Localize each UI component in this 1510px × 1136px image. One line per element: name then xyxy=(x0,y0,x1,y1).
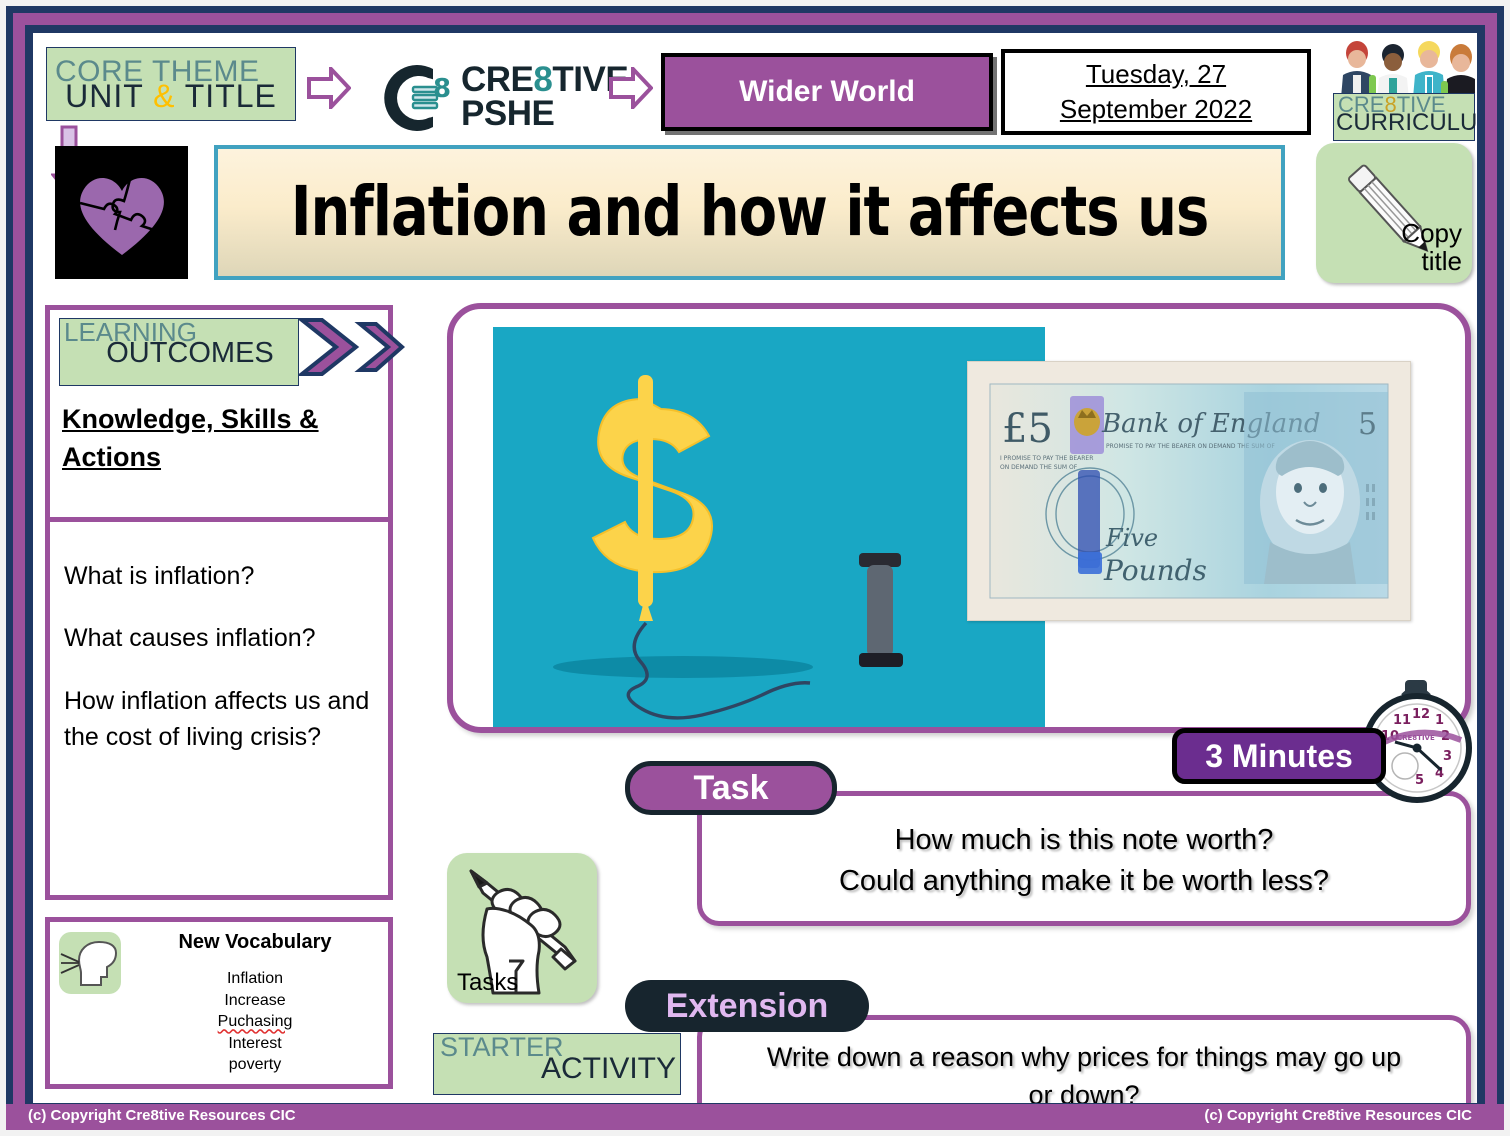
arrow-right-icon-2 xyxy=(609,67,653,114)
svg-text:Pounds: Pounds xyxy=(1103,554,1207,587)
learning-outcomes-list: What is inflation? What causes inflation… xyxy=(50,522,388,755)
copyright-right: (c) Copyright Cre8tive Resources CIC xyxy=(1204,1107,1472,1124)
brand-line-1: CRE8TIVE xyxy=(461,63,628,97)
learning-outcomes-panel: LEARNING OUTCOMES Knowledge, Skills & Ac… xyxy=(45,305,393,900)
svg-text:£5: £5 xyxy=(1002,406,1053,452)
five-pound-note-image: £5 I PROMISE TO PAY THE BEARER ON DEMAND… xyxy=(967,361,1411,621)
tasks-icon-label: Tasks xyxy=(457,969,518,997)
curriculum-line-2: CURRICULUM xyxy=(1334,111,1474,135)
outcome-item-2: What causes inflation? xyxy=(64,620,374,656)
core-theme-label-line2: UNIT & TITLE xyxy=(47,80,295,112)
core-theme-badge: CORE THEME UNIT & TITLE xyxy=(46,47,296,121)
copy-title-label: Copy title xyxy=(1401,220,1462,275)
arrow-right-icon-1 xyxy=(307,67,351,114)
core-theme-title: TITLE xyxy=(185,78,277,114)
vocab-word-1: Inflation xyxy=(140,968,370,990)
vocab-word-5: poverty xyxy=(140,1054,370,1076)
footer-bar: (c) Copyright Cre8tive Resources CIC (c)… xyxy=(6,1104,1504,1130)
task-line-2: Could anything make it be worth less? xyxy=(702,861,1466,902)
extension-line-2: or down? xyxy=(702,1076,1466,1103)
brand-wordmark: CRE8TIVE PSHE xyxy=(461,63,628,131)
slide-canvas: CORE THEME UNIT & TITLE xyxy=(33,33,1477,1103)
vocab-word-3: Puchasing xyxy=(140,1011,370,1033)
svg-text:I PROMISE TO PAY THE BEARER: I PROMISE TO PAY THE BEARER xyxy=(1000,455,1093,462)
speaking-head-icon xyxy=(59,932,121,994)
extension-tab-label: Extension xyxy=(625,980,869,1032)
double-chevron-icon xyxy=(298,316,406,378)
copyright-left: (c) Copyright Cre8tive Resources CIC xyxy=(28,1107,296,1124)
stopwatch-brand-text: CRE8TIVE xyxy=(1397,734,1435,742)
task-line-1: How much is this note worth? xyxy=(702,820,1466,861)
knowledge-skills-actions-heading: Knowledge, Skills & Actions xyxy=(62,400,362,477)
svg-text:Five: Five xyxy=(1105,524,1158,552)
unit-name-badge: Wider World xyxy=(661,53,993,131)
svg-text:3: 3 xyxy=(1443,749,1452,764)
brand-line-2: PSHE xyxy=(461,97,628,131)
copy-title-line-1: Copy xyxy=(1401,220,1462,247)
vocab-word-2: Increase xyxy=(140,990,370,1012)
tasks-icon-button[interactable]: Tasks xyxy=(447,853,597,1003)
outcome-item-3: How inflation affects us and the cost of… xyxy=(64,683,374,756)
learning-outcomes-badge: LEARNING OUTCOMES xyxy=(59,318,299,386)
lesson-date: Tuesday, 27 September 2022 xyxy=(1001,49,1311,135)
extension-text: Write down a reason why prices for thing… xyxy=(702,1038,1466,1103)
svg-text:12: 12 xyxy=(1412,707,1430,722)
task-tab-label: Task xyxy=(625,761,837,815)
unit-puzzle-heart-icon xyxy=(55,146,188,279)
svg-text:1: 1 xyxy=(1435,713,1444,728)
new-vocabulary-words: Inflation Increase Puchasing Interest po… xyxy=(140,968,370,1076)
svg-text:ON DEMAND THE SUM OF: ON DEMAND THE SUM OF xyxy=(1000,464,1078,471)
inflation-balloon-image xyxy=(493,327,1045,727)
new-vocabulary-title: New Vocabulary xyxy=(130,931,380,954)
media-panel: £5 I PROMISE TO PAY THE BEARER ON DEMAND… xyxy=(447,303,1471,733)
new-vocabulary-panel: New Vocabulary Inflation Increase Puchas… xyxy=(45,917,393,1089)
c8-mark-icon: 8 xyxy=(373,57,455,139)
copy-title-button[interactable]: Copy title xyxy=(1316,143,1472,283)
task-text: How much is this note worth? Could anyth… xyxy=(702,820,1466,902)
cre8tive-curriculum-logo: CRE8TIVE CURRICULUM xyxy=(1329,35,1477,147)
core-theme-ampersand: & xyxy=(153,78,175,114)
svg-text:5: 5 xyxy=(1415,773,1424,788)
slide-root: CORE THEME UNIT & TITLE xyxy=(0,0,1510,1136)
core-theme-unit: UNIT xyxy=(65,78,143,114)
timer-badge: 3 Minutes xyxy=(1172,728,1386,784)
learning-outcomes-header: LEARNING OUTCOMES Knowledge, Skills & Ac… xyxy=(50,310,388,522)
starter-activity-badge: STARTER ACTIVITY xyxy=(433,1033,681,1095)
curriculum-name-band: CRE8TIVE CURRICULUM xyxy=(1333,93,1475,141)
svg-text:8: 8 xyxy=(433,74,451,104)
lesson-title-bar: Inflation and how it affects us xyxy=(214,145,1285,280)
date-line-2: September 2022 xyxy=(1060,92,1252,127)
vocab-word-4: Interest xyxy=(140,1033,370,1055)
copy-title-line-2: title xyxy=(1401,248,1462,275)
page-title: Inflation and how it affects us xyxy=(291,173,1209,252)
svg-text:5: 5 xyxy=(1358,407,1377,442)
outcome-item-1: What is inflation? xyxy=(64,558,374,594)
svg-text:11: 11 xyxy=(1393,713,1411,728)
extension-line-1: Write down a reason why prices for thing… xyxy=(702,1038,1466,1076)
date-line-1: Tuesday, 27 xyxy=(1086,57,1226,92)
